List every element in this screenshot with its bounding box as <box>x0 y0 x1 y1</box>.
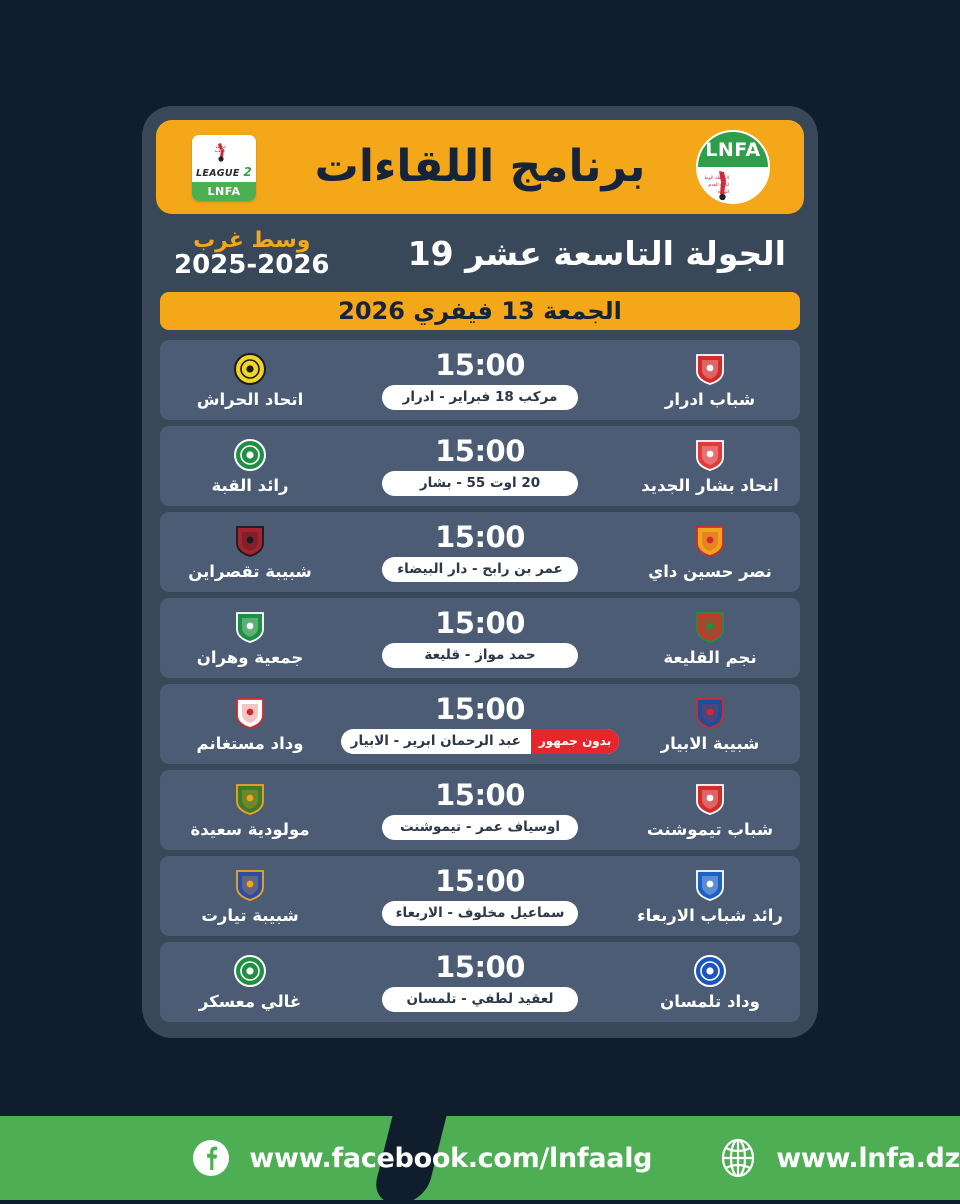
venue-pill: بدون جمهورعبد الرحمان ابرير - الابيار <box>341 729 619 754</box>
schedule-card: الرابطة الوطنية LEAGUE 2 LNFA برنامج الل… <box>142 106 818 1038</box>
venue-name: عبد الرحمان ابرير - الابيار <box>341 729 531 754</box>
league2-word: LEAGUE <box>196 168 240 179</box>
match-row[interactable]: شبيبة الابيار15:00بدون جمهورعبد الرحمان … <box>160 684 800 764</box>
footer-website-text: www.lnfa.dz <box>776 1143 960 1174</box>
match-row[interactable]: رائد شباب الاربعاء15:00سماعيل مخلوف - ال… <box>160 856 800 936</box>
home-team: شباب تيموشنت <box>620 782 800 839</box>
match-center: 15:00عمر بن رابح - دار البيضاء <box>340 523 620 582</box>
away-team-crest-icon <box>233 782 267 816</box>
home-team-crest-icon <box>693 610 727 644</box>
home-team-crest <box>693 954 727 988</box>
home-team-crest-icon <box>693 438 727 472</box>
match-time: 15:00 <box>435 695 525 724</box>
home-team: شباب ادرار <box>620 352 800 409</box>
match-center: 15:00بدون جمهورعبد الرحمان ابرير - الابي… <box>340 695 620 754</box>
away-team-crest-icon <box>233 868 267 902</box>
away-team-crest <box>233 610 267 644</box>
season-region: وسط غرب <box>174 229 330 252</box>
match-center: 15:00حمد مواز - قليعة <box>340 609 620 668</box>
venue-name: اوسياف عمر - تيموشنت <box>382 815 578 840</box>
match-row[interactable]: نجم القليعة15:00حمد مواز - قليعةجمعية وه… <box>160 598 800 678</box>
match-time: 15:00 <box>435 437 525 466</box>
venue-pill: عمر بن رابح - دار البيضاء <box>382 557 578 582</box>
away-team-crest <box>233 352 267 386</box>
away-team-crest-icon <box>233 610 267 644</box>
away-team-name: شبيبة تقصراين <box>188 562 311 581</box>
footer-bar: www.lnfa.dz www.facebook.com/lnfaalg <box>0 1116 960 1200</box>
match-center: 15:0020 اوت 55 - بشار <box>340 437 620 496</box>
match-row[interactable]: شباب تيموشنت15:00اوسياف عمر - تيموشنتمول… <box>160 770 800 850</box>
home-team: اتحاد بشار الجديد <box>620 438 800 495</box>
home-team-crest-icon <box>693 524 727 558</box>
home-team-name: رائد شباب الاربعاء <box>637 906 783 925</box>
away-team-crest <box>233 438 267 472</box>
match-time: 15:00 <box>435 609 525 638</box>
facebook-icon <box>189 1136 233 1180</box>
league2-label: LEAGUE 2 <box>196 166 252 179</box>
venue-pill: مركب 18 فبراير - ادرار <box>382 385 578 410</box>
home-team: نجم القليعة <box>620 610 800 667</box>
date-banner: الجمعة 13 فيفري 2026 <box>160 292 800 330</box>
season-box: وسط غرب 2025-2026 <box>174 229 330 279</box>
home-team-crest-icon <box>693 868 727 902</box>
round-title: الجولة التاسعة عشر 19 <box>408 236 786 272</box>
away-team-name: رائد القبة <box>211 476 288 495</box>
date-banner-text: الجمعة 13 فيفري 2026 <box>338 297 622 325</box>
home-team-crest <box>693 352 727 386</box>
home-team-name: شباب تيموشنت <box>647 820 773 839</box>
away-team: شبيبة تيارت <box>160 868 340 925</box>
footer-facebook-text: www.facebook.com/lnfaalg <box>249 1143 652 1174</box>
home-team-name: اتحاد بشار الجديد <box>641 476 779 495</box>
away-team-crest-icon <box>233 438 267 472</box>
match-center: 15:00سماعيل مخلوف - الاربعاء <box>340 867 620 926</box>
match-time: 15:00 <box>435 867 525 896</box>
match-time: 15:00 <box>435 953 525 982</box>
footer-website[interactable]: www.lnfa.dz <box>716 1136 960 1180</box>
away-team-name: جمعية وهران <box>197 648 303 667</box>
venue-pill: اوسياف عمر - تيموشنت <box>382 815 578 840</box>
venue-pill: سماعيل مخلوف - الاربعاء <box>382 901 578 926</box>
venue-name: عمر بن رابح - دار البيضاء <box>382 557 578 582</box>
no-crowd-badge: بدون جمهور <box>531 729 619 754</box>
league2-lnfa-band: LNFA <box>192 182 256 201</box>
home-team: رائد شباب الاربعاء <box>620 868 800 925</box>
away-team: غالي معسكر <box>160 954 340 1011</box>
away-team-name: شبيبة تيارت <box>201 906 298 925</box>
venue-name: سماعيل مخلوف - الاربعاء <box>382 901 578 926</box>
svg-text:للهواة: للهواة <box>718 190 729 195</box>
home-team: شبيبة الابيار <box>620 696 800 753</box>
home-team-name: شبيبة الابيار <box>661 734 760 753</box>
venue-name: لعقيد لطفي - تلمسان <box>382 987 578 1012</box>
away-team-name: اتحاد الحراش <box>197 390 304 409</box>
lnfa-logo-bottom: الرابطة الوطنية لكرة القدم للهواة <box>698 167 768 202</box>
home-team-crest <box>693 610 727 644</box>
lnfa-logo-top: LNFA <box>698 132 768 167</box>
lnfa-logo-text: LNFA <box>705 139 761 161</box>
away-team-crest <box>233 868 267 902</box>
season-years: 2025-2026 <box>174 252 330 279</box>
venue-name: حمد مواز - قليعة <box>382 643 578 668</box>
home-team-name: نصر حسين داي <box>648 562 772 581</box>
lnfa-logo: LNFA الرابطة الوطنية لكرة القدم للهواة <box>696 130 770 204</box>
league2-number: 2 <box>243 165 252 179</box>
match-center: 15:00مركب 18 فبراير - ادرار <box>340 351 620 410</box>
match-time: 15:00 <box>435 351 525 380</box>
league2-logo: الرابطة الوطنية LEAGUE 2 LNFA <box>192 135 256 201</box>
match-time: 15:00 <box>435 781 525 810</box>
away-team-crest <box>233 696 267 730</box>
home-team-name: شباب ادرار <box>665 390 755 409</box>
away-team-crest <box>233 954 267 988</box>
home-team-crest-icon <box>693 352 727 386</box>
match-list: شباب ادرار15:00مركب 18 فبراير - ادراراتح… <box>156 340 804 1022</box>
home-team-crest <box>693 438 727 472</box>
away-team-name: مولودية سعيدة <box>190 820 309 839</box>
away-team: مولودية سعيدة <box>160 782 340 839</box>
svg-text:الرابطة الوطنية: الرابطة الوطنية <box>705 176 729 181</box>
away-team-name: وداد مستغانم <box>197 734 304 753</box>
venue-pill: 20 اوت 55 - بشار <box>382 471 578 496</box>
venue-pill: لعقيد لطفي - تلمسان <box>382 987 578 1012</box>
home-team-crest <box>693 524 727 558</box>
away-team: شبيبة تقصراين <box>160 524 340 581</box>
league2-emblem-icon: الرابطة الوطنية <box>212 139 236 165</box>
header-band: الرابطة الوطنية LEAGUE 2 LNFA برنامج الل… <box>156 120 804 214</box>
match-row[interactable]: نصر حسين داي15:00عمر بن رابح - دار البيض… <box>160 512 800 592</box>
svg-text:الوطنية: الوطنية <box>215 149 225 153</box>
home-team-crest-icon <box>693 954 727 988</box>
home-team: نصر حسين داي <box>620 524 800 581</box>
venue-pill: حمد مواز - قليعة <box>382 643 578 668</box>
footer-facebook[interactable]: www.facebook.com/lnfaalg <box>189 1136 652 1180</box>
away-team-crest-icon <box>233 524 267 558</box>
away-team-crest <box>233 524 267 558</box>
venue-name: مركب 18 فبراير - ادرار <box>382 385 578 410</box>
globe-icon <box>716 1136 760 1180</box>
home-team-crest-icon <box>693 696 727 730</box>
venue-name: 20 اوت 55 - بشار <box>382 471 578 496</box>
home-team-crest-icon <box>693 782 727 816</box>
home-team-name: نجم القليعة <box>663 648 756 667</box>
home-team-name: وداد تلمسان <box>660 992 760 1011</box>
home-team: وداد تلمسان <box>620 954 800 1011</box>
away-team: اتحاد الحراش <box>160 352 340 409</box>
away-team-name: غالي معسكر <box>199 992 301 1011</box>
away-team-crest-icon <box>233 352 267 386</box>
home-team-crest <box>693 868 727 902</box>
match-center: 15:00لعقيد لطفي - تلمسان <box>340 953 620 1012</box>
match-row[interactable]: وداد تلمسان15:00لعقيد لطفي - تلمسانغالي … <box>160 942 800 1022</box>
round-strip: الجولة التاسعة عشر 19 وسط غرب 2025-2026 <box>156 214 804 288</box>
svg-text:لكرة القدم: لكرة القدم <box>708 182 729 188</box>
match-row[interactable]: اتحاد بشار الجديد15:0020 اوت 55 - بشاررا… <box>160 426 800 506</box>
match-center: 15:00اوسياف عمر - تيموشنت <box>340 781 620 840</box>
lnfa-emblem-icon: الرابطة الوطنية لكرة القدم للهواة <box>705 169 761 201</box>
away-team: رائد القبة <box>160 438 340 495</box>
match-time: 15:00 <box>435 523 525 552</box>
away-team-crest-icon <box>233 696 267 730</box>
page-title: برنامج اللقاءات <box>315 145 646 189</box>
away-team-crest <box>233 782 267 816</box>
away-team: جمعية وهران <box>160 610 340 667</box>
away-team: وداد مستغانم <box>160 696 340 753</box>
away-team-crest-icon <box>233 954 267 988</box>
home-team-crest <box>693 782 727 816</box>
home-team-crest <box>693 696 727 730</box>
match-row[interactable]: شباب ادرار15:00مركب 18 فبراير - ادراراتح… <box>160 340 800 420</box>
